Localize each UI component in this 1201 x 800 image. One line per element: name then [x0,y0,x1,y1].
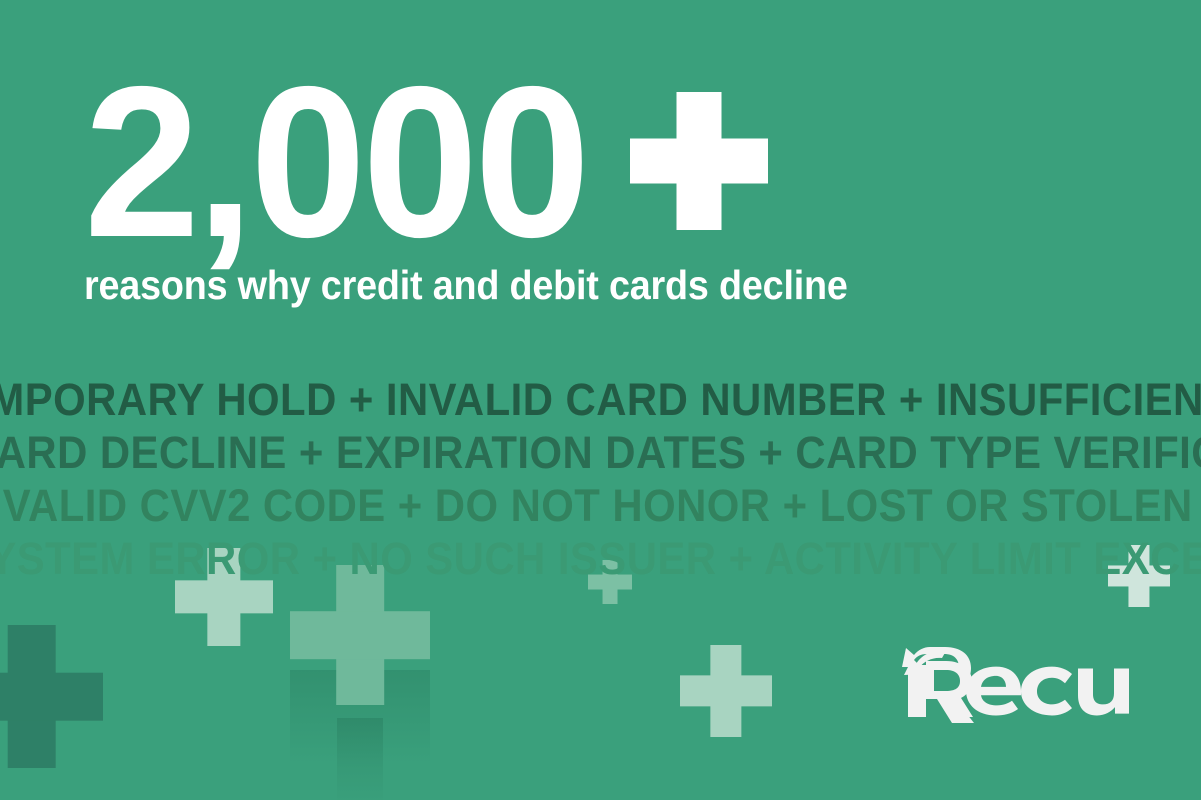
plus-mid-large-stem-shadow [337,718,383,800]
decline-reasons-marquee: TEMPORARY HOLD + INVALID CARD NUMBER + I… [0,374,1201,585]
plus-light-upper-left-icon [175,548,273,646]
recurly-logo [900,645,1132,723]
headline-number: 2,000 [84,72,586,252]
headline-block: 2,000 reasons why credit and debit cards… [84,72,914,308]
plus-pale-right-icon [1108,545,1170,607]
recurly-infographic-canvas: TEMPORARY HOLD + INVALID CARD NUMBER + I… [0,0,1201,800]
plus-mid-large-icon [290,565,430,705]
plus-dark-bottom-left-icon [0,625,103,768]
headline-row: 2,000 [84,72,914,252]
decline-reason-row-2: HARD DECLINE + EXPIRATION DATES + CARD T… [0,427,1114,479]
decline-reason-row-4: SYSTEM ERROR + NO SUCH ISSUER + ACTIVITY… [0,533,1114,585]
plus-symbol-icon [630,92,768,230]
headline-subtitle: reasons why credit and debit cards decli… [84,262,848,308]
plus-light-center-bottom-icon [680,645,772,737]
plus-small-center-icon [588,560,632,604]
plus-mid-large-shadow [290,670,430,765]
decline-reason-row-3: INVALID CVV2 CODE + DO NOT HONOR + LOST … [0,480,1114,532]
decline-reason-row-1: TEMPORARY HOLD + INVALID CARD NUMBER + I… [0,374,1112,426]
